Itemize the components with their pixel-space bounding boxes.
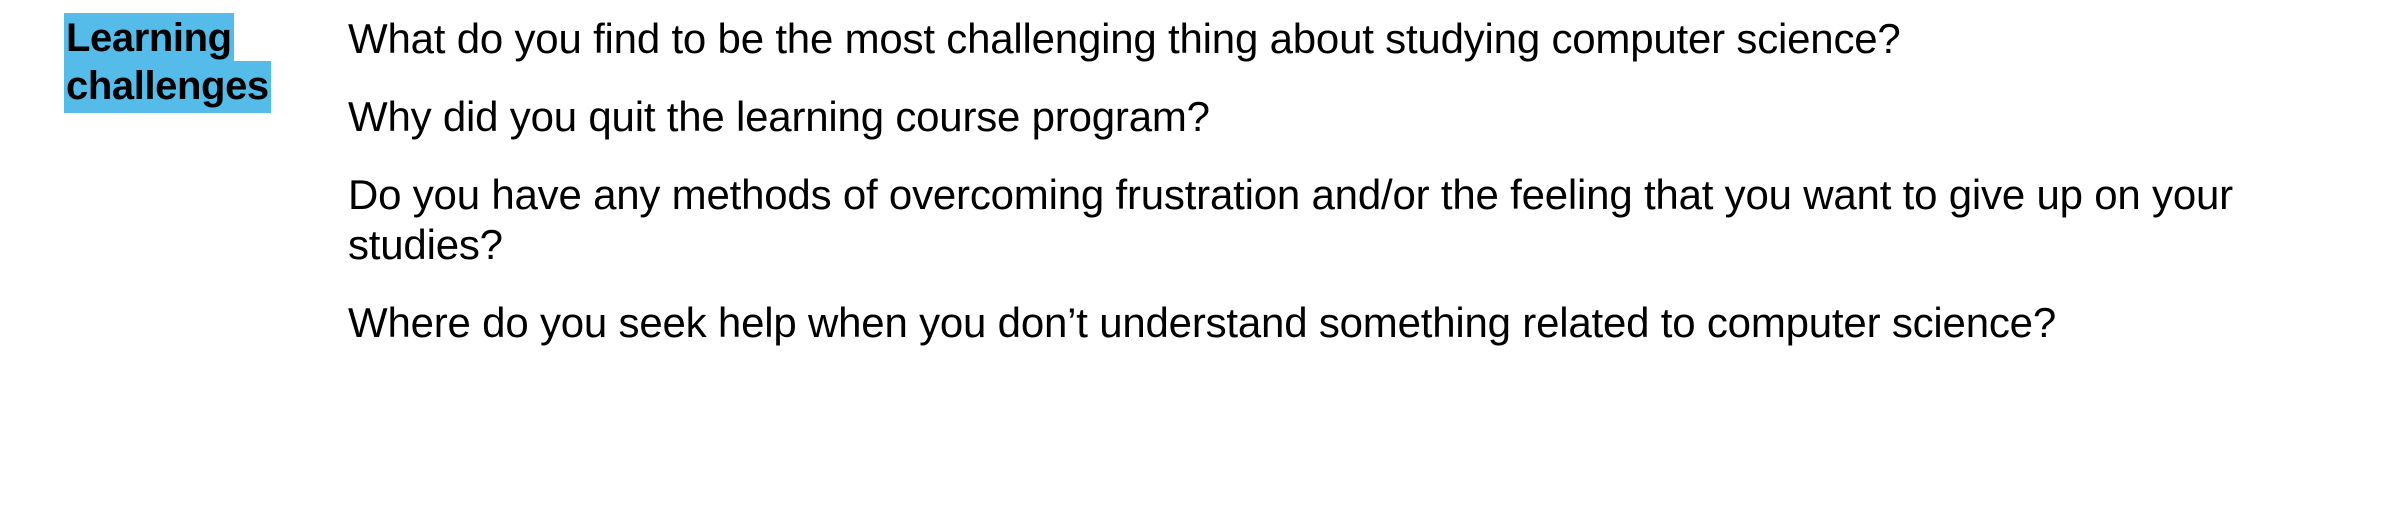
questions-cell: What do you find to be the most challeng… [348,14,2396,348]
question-item: What do you find to be the most challeng… [348,14,2323,64]
section-label: Learning challenges [64,14,324,110]
section-label-highlight: Learning challenges [64,13,271,113]
interview-guide-row: Learning challenges What do you find to … [0,0,2396,506]
question-item: Why did you quit the learning course pro… [348,92,2323,142]
question-item: Do you have any methods of overcoming fr… [348,170,2323,270]
question-item: Where do you seek help when you don’t un… [348,298,2323,348]
section-label-cell: Learning challenges [0,14,348,110]
